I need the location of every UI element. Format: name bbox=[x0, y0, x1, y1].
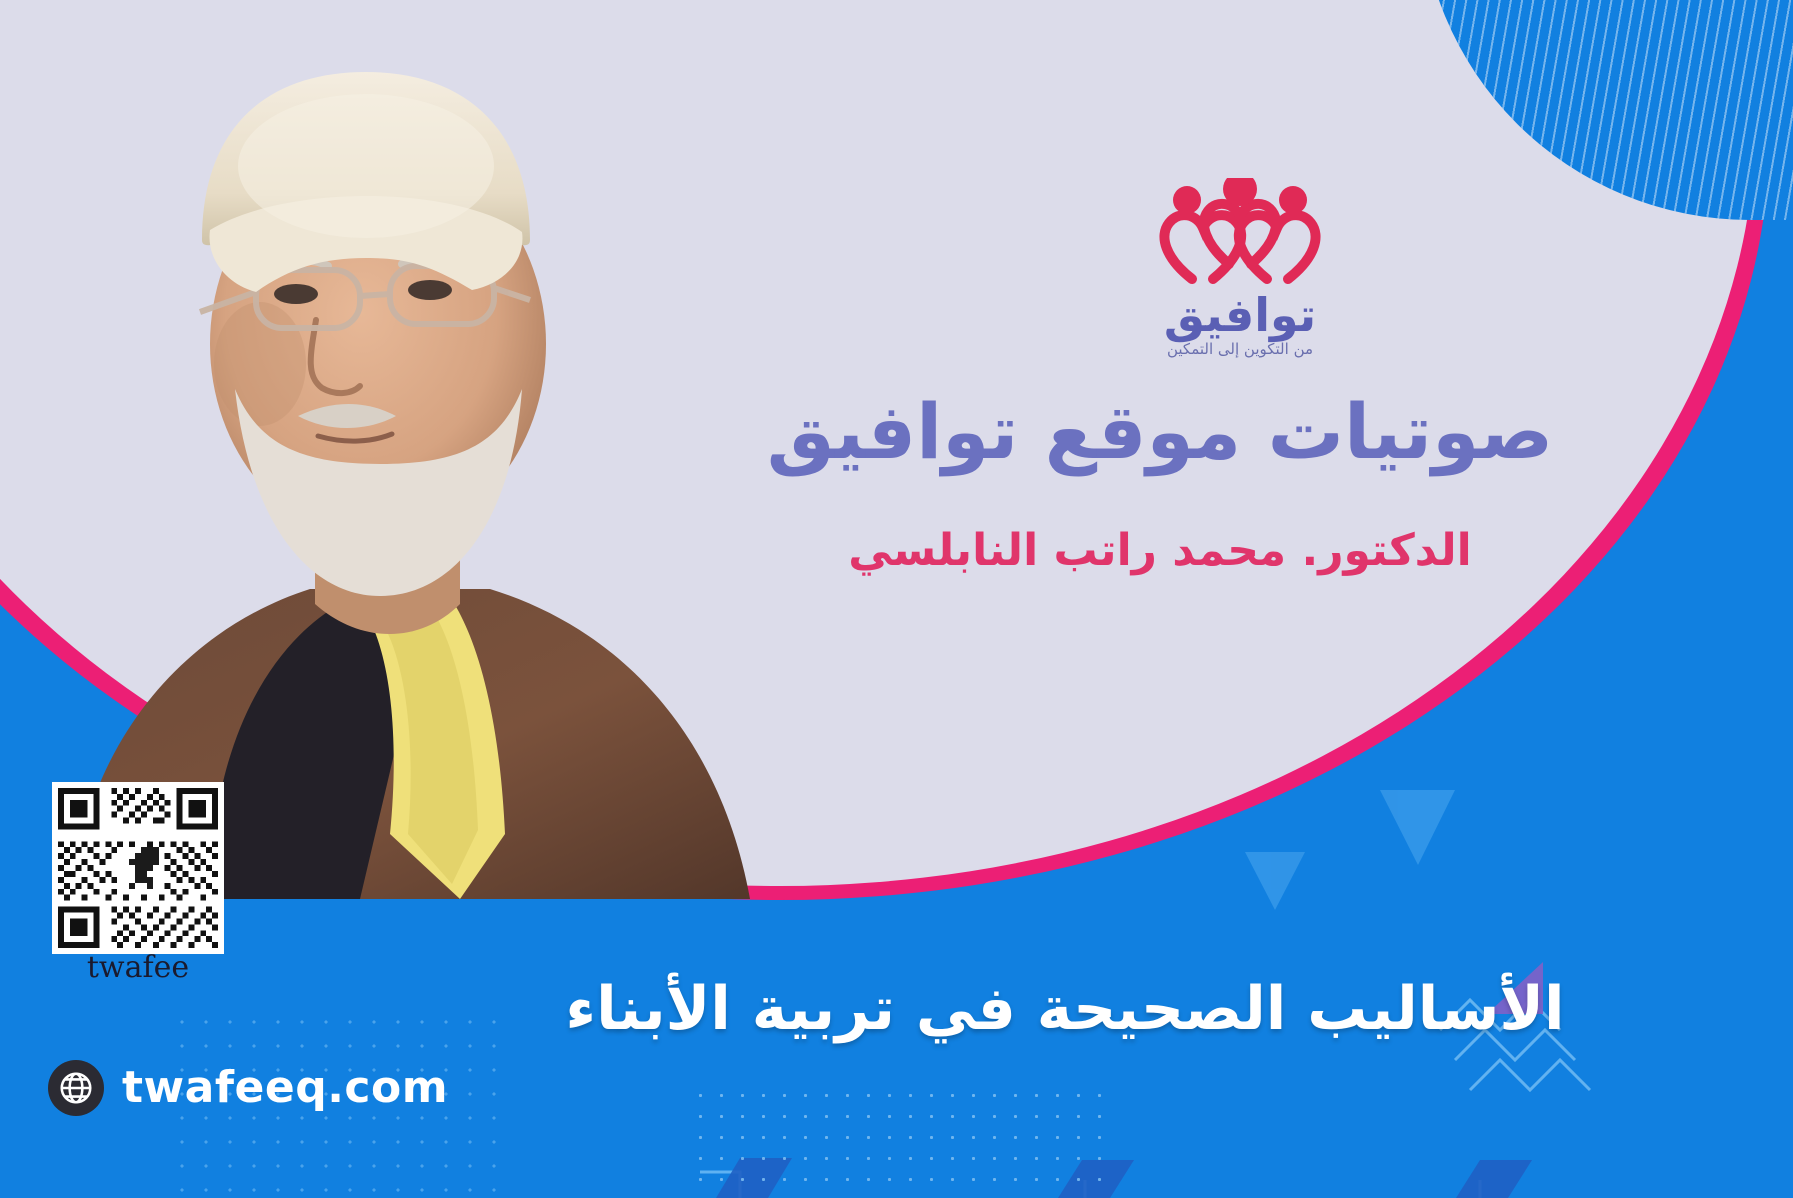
top-right-corner-decoration bbox=[1420, 0, 1793, 220]
logo-dot-right bbox=[1279, 186, 1307, 214]
qr-code-icon bbox=[52, 782, 224, 954]
dot-grid-decoration-right bbox=[690, 1085, 1110, 1190]
striped-pattern bbox=[1420, 0, 1793, 220]
page-title: صوتيات موقع توافيق bbox=[640, 390, 1680, 474]
logo-dot-left bbox=[1173, 186, 1201, 214]
qr-code[interactable] bbox=[52, 782, 224, 954]
qr-code-label: twafee bbox=[52, 950, 224, 985]
website-url: twafeeq.com bbox=[122, 1066, 448, 1110]
lecture-title: الأساليب الصحيحة في تربية الأبناء bbox=[430, 975, 1700, 1044]
globe-icon bbox=[48, 1060, 104, 1116]
three-hearts-family-logo-icon bbox=[1151, 178, 1329, 290]
website-link[interactable]: twafeeq.com bbox=[48, 1060, 448, 1116]
poster-canvas: توافيق من التكوين إلى التمكين صوتيات موق… bbox=[0, 0, 1793, 1198]
brand-name: توافيق bbox=[1135, 292, 1345, 338]
speaker-name: الدكتور. محمد راتب النابلسي bbox=[640, 525, 1680, 578]
brand-tagline: من التكوين إلى التمكين bbox=[1135, 342, 1345, 357]
brand-logo: توافيق من التكوين إلى التمكين bbox=[1135, 178, 1345, 378]
